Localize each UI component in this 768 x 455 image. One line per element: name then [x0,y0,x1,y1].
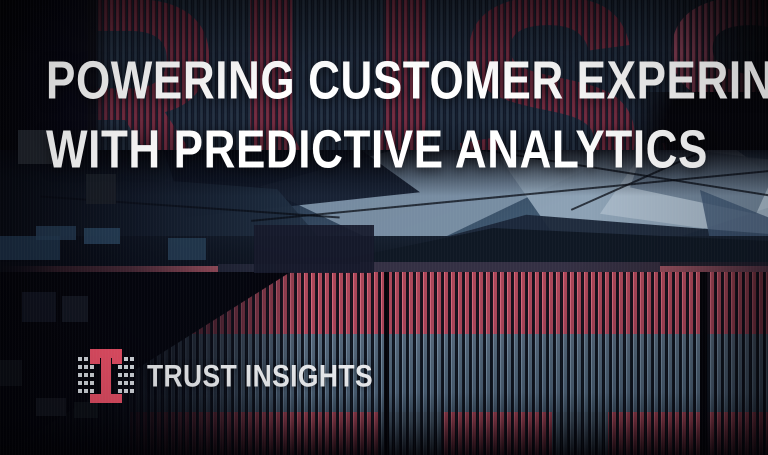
glitch-block [36,398,66,416]
headline-line-2: WITH PREDICTIVE ANALYTICS [46,115,746,185]
glitch-block [62,296,88,322]
glitch-block [84,228,120,244]
i-beam-notch-right [112,358,122,364]
dot-matrix-column [130,357,134,395]
brand-logo[interactable]: TRUST INSIGHTS [78,348,378,404]
headline-line-1: POWERING CUSTOMER EXPERINCE [46,46,746,116]
shadow-lower-right [698,272,768,455]
trust-insights-i-beam-icon [78,348,134,404]
page-title: POWERING CUSTOMER EXPERINCE WITH PREDICT… [46,46,746,172]
hero-banner: RUSSI [0,0,768,455]
glitch-block [74,402,98,418]
brand-wordmark: TRUST INSIGHTS [147,358,373,395]
glitch-block [254,225,374,273]
i-beam-notch-left [90,358,100,364]
glitch-block [22,292,56,322]
glitch-block [0,360,22,386]
i-beam-bottom-bar [90,394,122,403]
dot-matrix-column [78,357,82,395]
glitch-block [168,238,206,260]
dot-matrix-column [124,357,128,395]
dot-matrix-column [84,357,88,395]
glitch-block [36,226,76,240]
